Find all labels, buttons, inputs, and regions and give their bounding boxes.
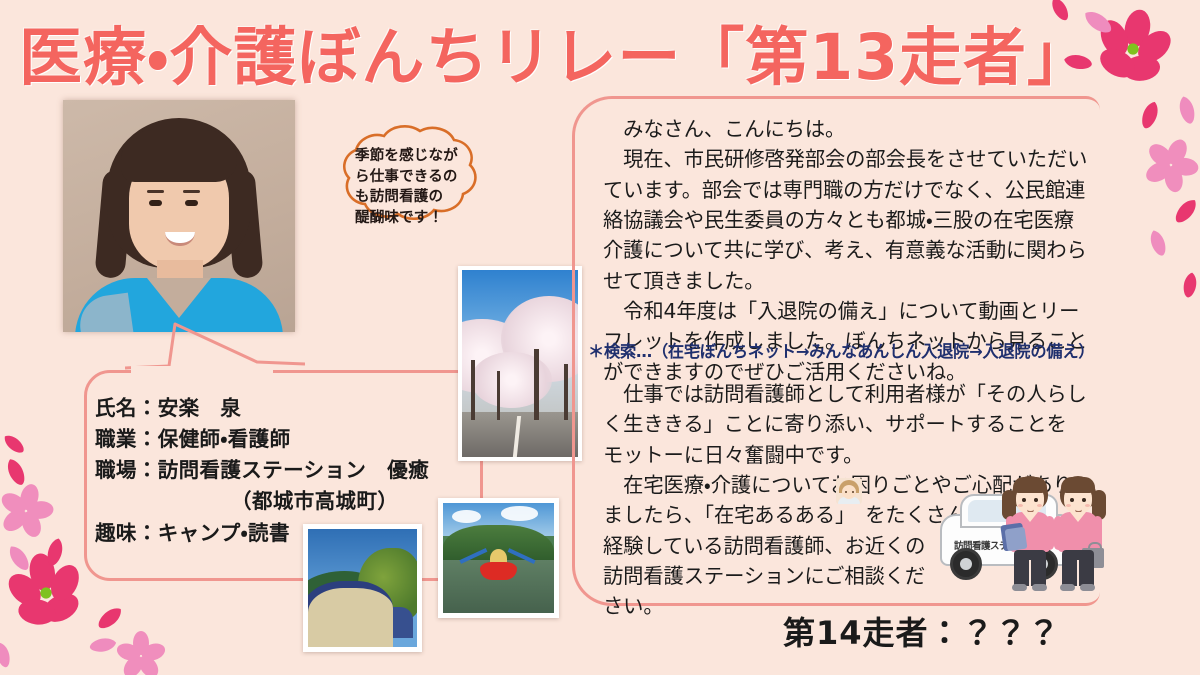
- page-title: 医療・介護ぼんちリレー「第13走者」: [0, 26, 1110, 89]
- thought-bubble: 季節を感じなが ら仕事できるの も訪問看護の 醍醐味です！: [323, 122, 507, 248]
- cherry-blossom-photo: [458, 266, 582, 461]
- camping-tent-photo: [303, 524, 422, 652]
- search-note: ＊検索…（在宅ぼんちネット→みんなあんしん入退院→入退院の備え）: [588, 338, 1108, 362]
- profile-details: 氏名：安楽 泉 職業：保健師・看護師 職場：訪問看護ステーション 優癒 （都城市…: [95, 393, 495, 549]
- kayaking-photo: [438, 498, 559, 618]
- poster-canvas: 医療・介護ぼんちリレー「第13走者」 季節を感じなが ら仕事できるの も訪問看護…: [0, 0, 1200, 675]
- next-runner-label: 第14走者：？？？: [783, 608, 1061, 654]
- nurse-figure-right: [1052, 476, 1104, 594]
- nurse-figure-left: [1004, 476, 1056, 594]
- thought-bubble-text: 季節を感じなが ら仕事できるの も訪問看護の 醍醐味です！: [355, 146, 479, 228]
- nurses-and-van-illustration: 訪問看護ステーション: [940, 470, 1112, 598]
- profile-box-tail-mask: [131, 366, 273, 376]
- portrait-photo: [63, 100, 295, 332]
- nurse-face-icon: [836, 478, 862, 504]
